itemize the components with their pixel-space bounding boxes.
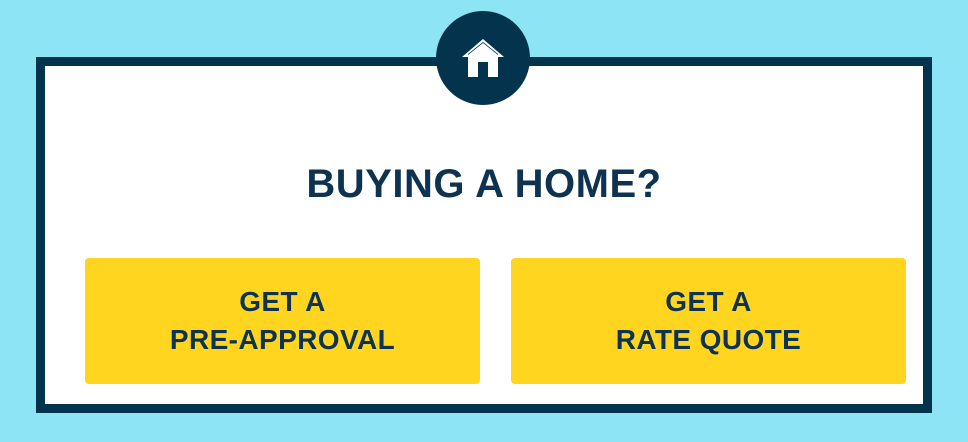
rate-quote-label-line1: GET A	[665, 283, 752, 321]
banner-card: BUYING A HOME? GET A PRE-APPROVAL GET A …	[36, 57, 932, 413]
buying-a-home-banner: BUYING A HOME? GET A PRE-APPROVAL GET A …	[0, 0, 968, 442]
get-a-rate-quote-button[interactable]: GET A RATE QUOTE	[511, 258, 906, 384]
pre-approval-label-line2: PRE-APPROVAL	[170, 321, 395, 359]
page-title: BUYING A HOME?	[54, 164, 914, 204]
rate-quote-label-line2: RATE QUOTE	[616, 321, 801, 359]
home-badge	[436, 11, 530, 105]
home-icon	[461, 38, 505, 78]
pre-approval-label-line1: GET A	[239, 283, 326, 321]
get-a-pre-approval-button[interactable]: GET A PRE-APPROVAL	[85, 258, 480, 384]
cta-button-row: GET A PRE-APPROVAL GET A RATE QUOTE	[85, 258, 906, 384]
